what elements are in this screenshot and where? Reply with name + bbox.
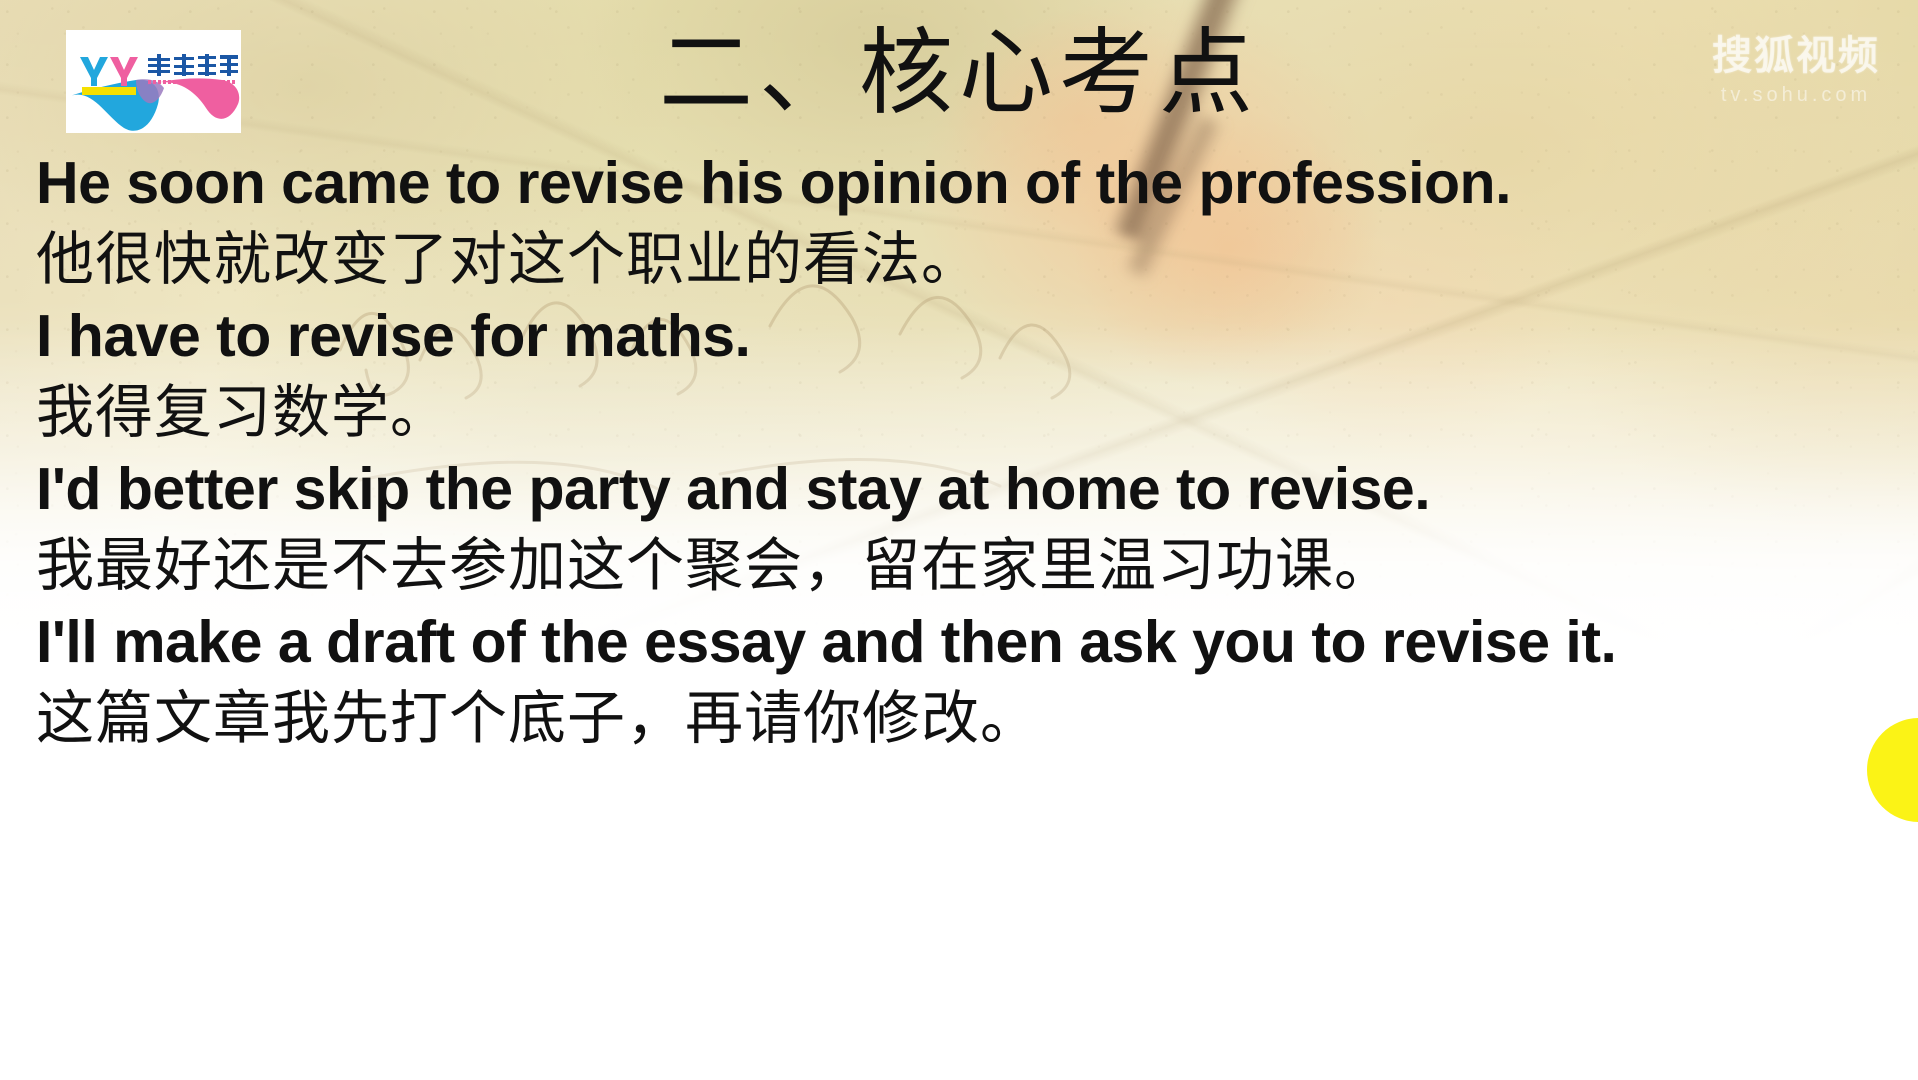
content-line-en-1: He soon came to revise his opinion of th… bbox=[36, 148, 1878, 218]
content-lines: He soon came to revise his opinion of th… bbox=[36, 148, 1878, 760]
content-line-en-5: I'd better skip the party and stay at ho… bbox=[36, 454, 1878, 524]
content-line-en-7: I'll make a draft of the essay and then … bbox=[36, 607, 1878, 677]
content-line-zh-6: 我最好还是不去参加这个聚会，留在家里温习功课。 bbox=[36, 524, 1878, 607]
content-line-en-3: I have to revise for maths. bbox=[36, 301, 1878, 371]
slide-title: 二、核心考点 bbox=[0, 22, 1918, 127]
content-line-zh-4: 我得复习数学。 bbox=[36, 371, 1878, 454]
slide-canvas: 搜狐视频 tv.sohu.com 二、核心考点 He soon came to … bbox=[0, 0, 1918, 1080]
content-line-zh-2: 他很快就改变了对这个职业的看法。 bbox=[36, 218, 1878, 301]
content-line-zh-8: 这篇文章我先打个底子，再请你修改。 bbox=[36, 677, 1878, 760]
